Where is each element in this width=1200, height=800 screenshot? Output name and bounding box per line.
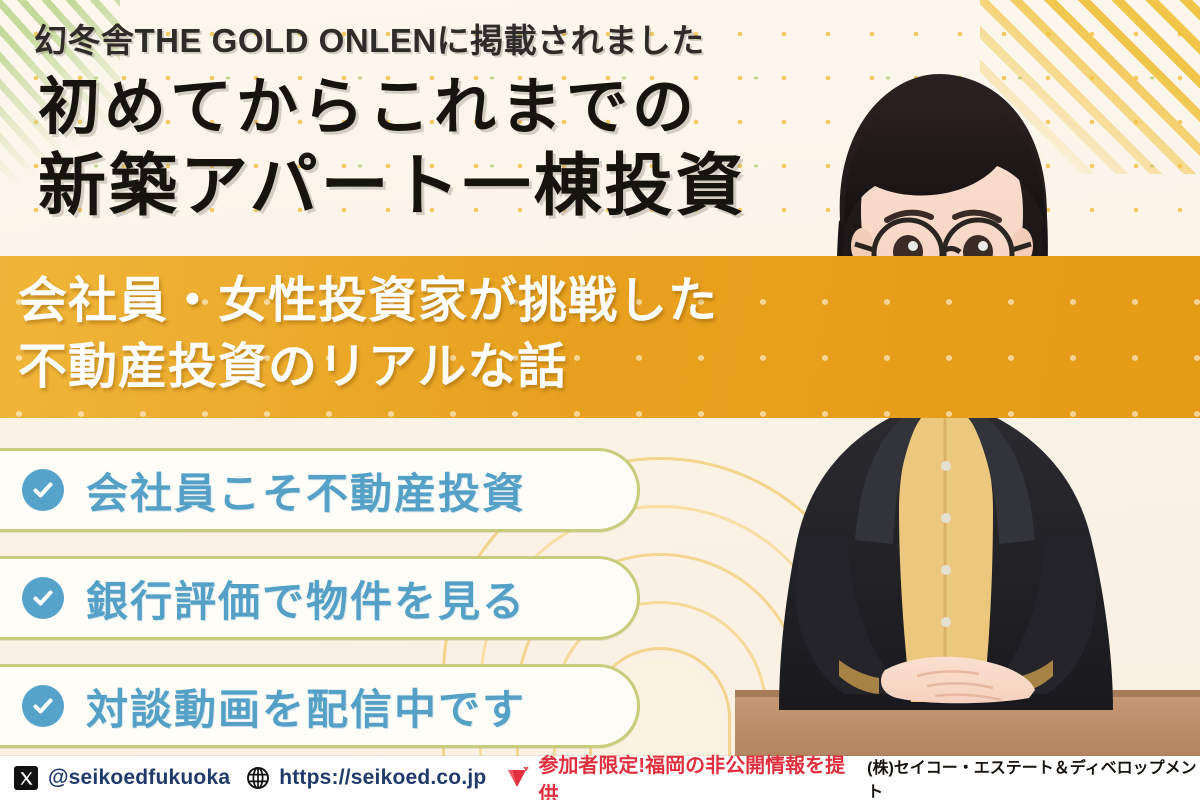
banner-line-2: 不動産投資のリアルな話 bbox=[18, 334, 718, 400]
bullet-item-3[interactable]: 対談動画を配信中です bbox=[0, 664, 640, 748]
x-handle-text: @seikoedfukuoka bbox=[48, 766, 230, 790]
main-title-line-2: 新築アパート一棟投資 bbox=[38, 147, 868, 227]
website-url-text: https://seikoed.co.jp bbox=[279, 766, 486, 790]
globe-icon bbox=[246, 766, 270, 790]
check-circle-icon bbox=[22, 685, 64, 727]
promo-text: 参加者限定!福岡の非公開情報を提供 bbox=[538, 749, 853, 800]
bullet-item-1[interactable]: 会社員こそ不動産投資 bbox=[0, 448, 640, 532]
orange-banner: 会社員・女性投資家が挑戦した 不動産投資のリアルな話 bbox=[0, 256, 1200, 418]
promo-note: 参加者限定!福岡の非公開情報を提供 (株)セイコー・エステート＆ディベロップメン… bbox=[486, 749, 1200, 800]
bullet-item-2[interactable]: 銀行評価で物件を見る bbox=[0, 556, 640, 640]
x-account[interactable]: @seikoedfukuoka bbox=[0, 766, 230, 790]
footer-bar: @seikoedfukuoka https://seikoed.co.jp bbox=[0, 756, 1200, 800]
bullet-label-3: 対談動画を配信中です bbox=[86, 676, 526, 737]
website-link[interactable]: https://seikoed.co.jp bbox=[230, 766, 486, 790]
main-title-line-1: 初めてからこれまでの bbox=[38, 70, 868, 143]
bullet-label-2: 銀行評価で物件を見る bbox=[86, 568, 526, 629]
x-logo-icon bbox=[14, 766, 38, 790]
kicker-headline: 幻冬舎THE GOLD ONLENに掲載されました bbox=[34, 14, 705, 62]
check-circle-icon bbox=[22, 469, 64, 511]
company-name-text: (株)セイコー・エステート＆ディベロップメント bbox=[867, 754, 1200, 800]
main-title: 初めてからこれまでの 新築アパート一棟投資 bbox=[38, 70, 868, 227]
check-circle-icon bbox=[22, 577, 64, 619]
banner-line-1: 会社員・女性投資家が挑戦した bbox=[18, 268, 718, 334]
banner-text: 会社員・女性投資家が挑戦した 不動産投資のリアルな話 bbox=[18, 268, 718, 400]
bullet-label-1: 会社員こそ不動産投資 bbox=[86, 460, 526, 521]
gem-icon bbox=[504, 767, 530, 789]
promo-banner-image: 会社員・女性投資家が挑戦した 不動産投資のリアルな話 幻冬舎THE GOLD O… bbox=[0, 0, 1200, 800]
